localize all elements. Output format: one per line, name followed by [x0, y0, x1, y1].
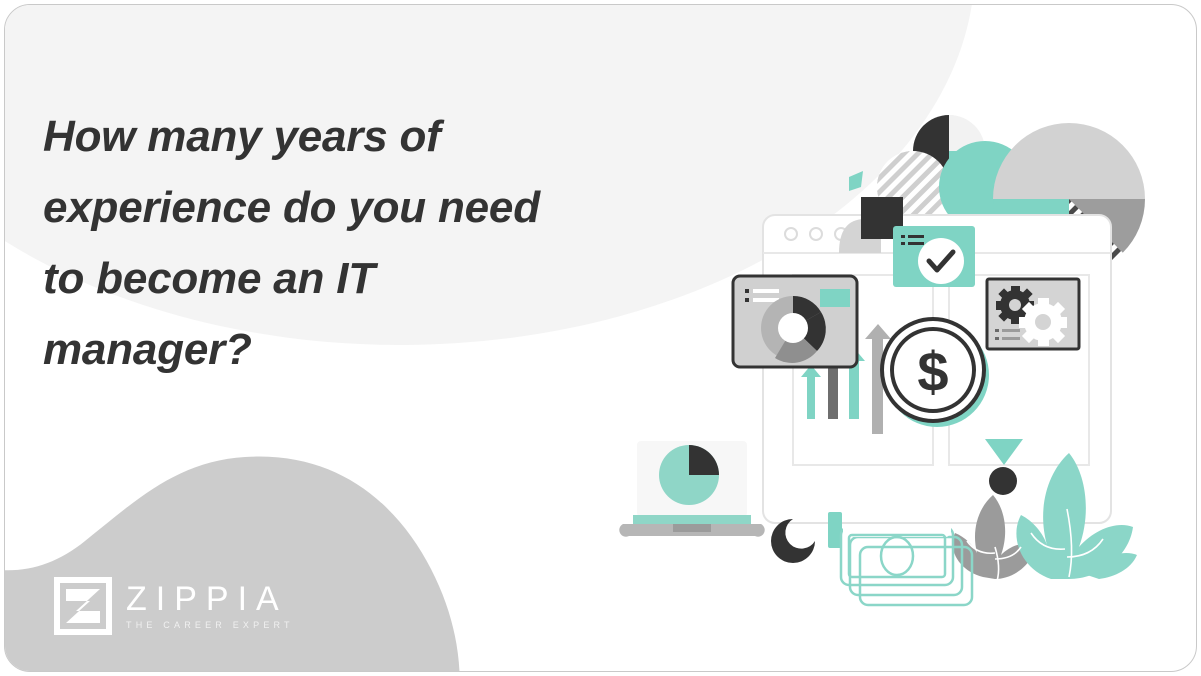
- money-stack: [841, 525, 972, 605]
- gears-card: [987, 279, 1079, 349]
- page-title: How many years of experience do you need…: [43, 101, 573, 385]
- window-dot: [785, 228, 797, 240]
- checkmark-card: [893, 226, 975, 287]
- laptop-pie: [619, 441, 764, 537]
- window-dot: [810, 228, 822, 240]
- zippia-wordmark-group: ZIPPIA THE CAREER EXPERT: [126, 581, 316, 632]
- business-analytics-illustration: $: [615, 57, 1195, 637]
- zippia-tagline: THE CAREER EXPERT: [126, 618, 316, 632]
- gear-white: [1019, 298, 1067, 346]
- zippia-z-mark: [54, 577, 112, 635]
- zippia-wordmark: ZIPPIA: [126, 581, 316, 617]
- crescent-shape: [771, 519, 815, 563]
- dollar-sign: $: [917, 340, 948, 403]
- zippia-logo[interactable]: ZIPPIA THE CAREER EXPERT: [54, 577, 314, 639]
- donut-chart-card: [733, 276, 857, 367]
- dot-accent: [989, 467, 1017, 495]
- promo-card: How many years of experience do you need…: [4, 4, 1197, 672]
